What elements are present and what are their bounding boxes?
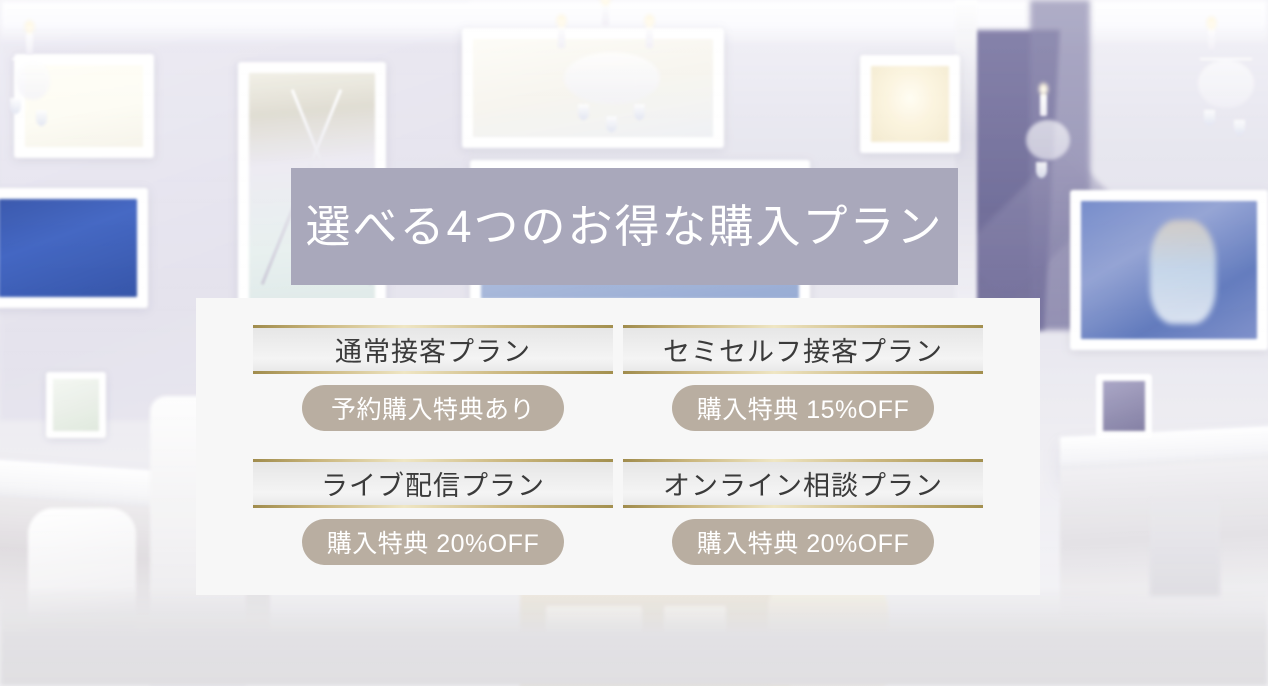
plan-title: オンライン相談プラン xyxy=(663,464,943,503)
wall-niche-vase xyxy=(860,55,960,153)
plan-title-bar: セミセルフ接客プラン xyxy=(623,325,983,374)
floor xyxy=(0,590,1268,686)
plan-card-live-stream[interactable]: ライブ配信プラン 購入特典 20%OFF xyxy=(253,459,613,565)
plan-badge-wrap: 購入特典 15%OFF xyxy=(623,385,983,431)
plan-title: ライブ配信プラン xyxy=(321,464,545,503)
plan-title-bar: オンライン相談プラン xyxy=(623,459,983,508)
plan-title-bar: ライブ配信プラン xyxy=(253,459,613,508)
plans-panel: 通常接客プラン 予約購入特典あり セミセルフ接客プラン 購入特典 15%OFF … xyxy=(196,298,1040,595)
chandelier-sconce-right xyxy=(1188,22,1268,182)
chandelier-sconce-left xyxy=(2,24,72,174)
plan-benefit-badge: 購入特典 20%OFF xyxy=(302,519,564,565)
portrait-figure xyxy=(1150,220,1216,324)
plan-benefit-badge: 購入特典 20%OFF xyxy=(672,519,934,565)
plan-badge-wrap: 購入特典 20%OFF xyxy=(623,519,983,565)
storage-bin-right xyxy=(1150,500,1220,596)
chandelier-center xyxy=(506,0,716,170)
plan-card-online-consult[interactable]: オンライン相談プラン 購入特典 20%OFF xyxy=(623,459,983,565)
wall-frame-monitor-left xyxy=(0,188,148,308)
plan-card-semi-self[interactable]: セミセルフ接客プラン 購入特典 15%OFF xyxy=(623,325,983,431)
plans-grid: 通常接客プラン 予約購入特典あり セミセルフ接客プラン 購入特典 15%OFF … xyxy=(253,325,983,565)
plan-benefit-badge: 予約購入特典あり xyxy=(302,385,564,431)
promo-banner: 選べる4つのお得な購入プラン 通常接客プラン 予約購入特典あり セミセルフ接客プ… xyxy=(0,0,1268,686)
plan-card-normal[interactable]: 通常接客プラン 予約購入特典あり xyxy=(253,325,613,431)
plan-benefit-badge: 購入特典 15%OFF xyxy=(672,385,934,431)
plan-title-bar: 通常接客プラン xyxy=(253,325,613,374)
plan-badge-wrap: 予約購入特典あり xyxy=(253,385,613,431)
desk-mirror-left xyxy=(46,372,106,438)
mirror-strip xyxy=(955,0,977,340)
chandelier-sconce-right-inner xyxy=(1018,90,1082,220)
plan-title: セミセルフ接客プラン xyxy=(663,330,943,369)
plan-badge-wrap: 購入特典 20%OFF xyxy=(253,519,613,565)
headline-band: 選べる4つのお得な購入プラン xyxy=(291,168,958,285)
desk-mirror-right xyxy=(1096,374,1152,438)
plan-title: 通常接客プラン xyxy=(335,330,531,369)
page-title: 選べる4つのお得な購入プラン xyxy=(305,202,943,252)
